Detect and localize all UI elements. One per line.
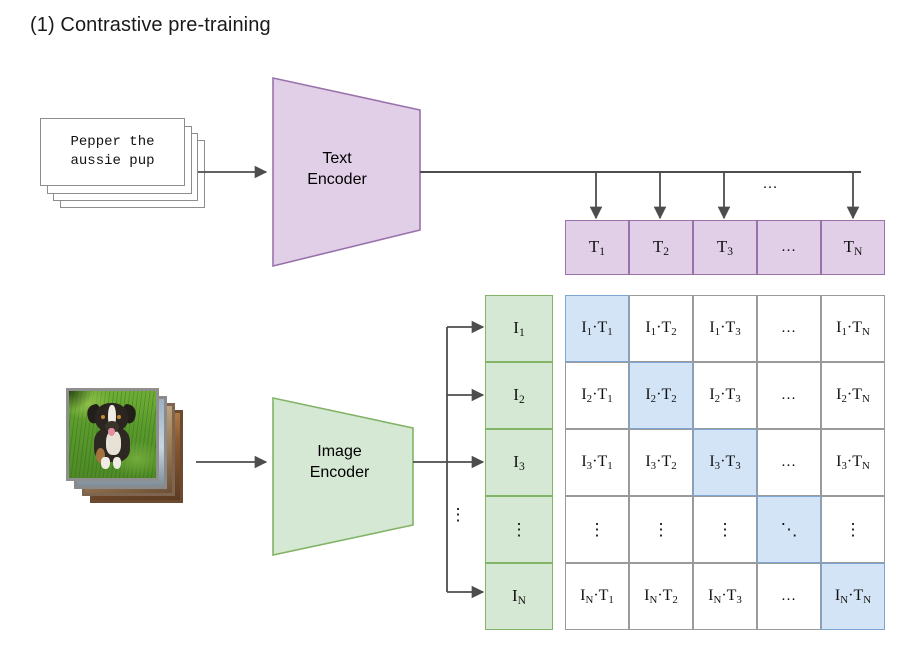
embedding-symbol: I1 bbox=[836, 319, 847, 336]
dot-product-label: I2·T2 bbox=[645, 386, 676, 405]
embedding-symbol: T2 bbox=[663, 587, 678, 604]
image-input-photo-stack bbox=[66, 388, 196, 503]
image-encoder-shape bbox=[273, 398, 413, 555]
text-embedding-box-N[interactable]: TN bbox=[821, 220, 885, 275]
image-encoder-label: Image Encoder bbox=[277, 441, 402, 483]
text-embedding-box-2[interactable]: T2 bbox=[629, 220, 693, 275]
embedding-symbol: T3 bbox=[717, 237, 733, 258]
matrix-cell-2-3[interactable]: I2·T3 bbox=[693, 362, 757, 429]
matrix-cell-5-5[interactable]: IN·TN bbox=[821, 563, 885, 630]
image-embedding-ellipsis[interactable]: ⋮ bbox=[485, 496, 553, 563]
dot-product-label: IN·T1 bbox=[580, 587, 614, 606]
dot-product-label: I2·TN bbox=[836, 386, 870, 405]
embedding-symbol: I2 bbox=[581, 386, 592, 403]
embedding-symbol: TN bbox=[844, 237, 863, 258]
text-embedding-box-1[interactable]: T1 bbox=[565, 220, 629, 275]
embedding-symbol: T1 bbox=[599, 587, 614, 604]
puppy-tongue bbox=[108, 428, 115, 436]
image-embedding-box-3[interactable]: I3 bbox=[485, 429, 553, 496]
embedding-symbol: TN bbox=[853, 587, 871, 604]
text-encoder-shape bbox=[273, 78, 420, 266]
dot-product-label: I1·T2 bbox=[645, 319, 676, 338]
embedding-symbol: I2 bbox=[709, 386, 720, 403]
dot-product-label: I3·TN bbox=[836, 453, 870, 472]
matrix-cell-1-3[interactable]: I1·T3 bbox=[693, 295, 757, 362]
dot-product-label: I3·T3 bbox=[709, 453, 740, 472]
embedding-symbol: TN bbox=[852, 386, 870, 403]
embedding-symbol: IN bbox=[708, 587, 721, 604]
embedding-symbol: T2 bbox=[661, 319, 676, 336]
matrix-cell-1-2[interactable]: I1·T2 bbox=[629, 295, 693, 362]
embedding-symbol: T2 bbox=[661, 386, 676, 403]
dot-product-label: I1·TN bbox=[836, 319, 870, 338]
embedding-symbol: T1 bbox=[589, 237, 605, 258]
matrix-cell-4-2[interactable]: ⋮ bbox=[629, 496, 693, 563]
ellipsis-glyph: … bbox=[781, 588, 797, 605]
image-bus-ellipsis: ⋮ bbox=[449, 505, 467, 525]
embedding-symbol: I2 bbox=[836, 386, 847, 403]
image-embedding-box-N[interactable]: IN bbox=[485, 563, 553, 630]
image-embedding-box-2[interactable]: I2 bbox=[485, 362, 553, 429]
text-embedding-ellipsis[interactable]: … bbox=[757, 220, 821, 275]
ellipsis-glyph: ⋱ bbox=[781, 520, 798, 540]
embedding-symbol: T3 bbox=[727, 587, 742, 604]
text-card-front: Pepper the aussie pup bbox=[40, 118, 185, 186]
embedding-symbol: … bbox=[781, 239, 797, 256]
ellipsis-glyph: ⋮ bbox=[653, 520, 670, 540]
embedding-symbol: I3 bbox=[709, 453, 720, 470]
matrix-cell-5-3[interactable]: IN·T3 bbox=[693, 563, 757, 630]
embedding-symbol: I3 bbox=[836, 453, 847, 470]
page-title: (1) Contrastive pre-training bbox=[30, 14, 271, 37]
embedding-symbol: IN bbox=[644, 587, 657, 604]
matrix-cell-2-5[interactable]: I2·TN bbox=[821, 362, 885, 429]
dot-product-label: IN·T2 bbox=[644, 587, 678, 606]
matrix-cell-4-4[interactable]: ⋱ bbox=[757, 496, 821, 563]
ellipsis-glyph: … bbox=[781, 454, 797, 471]
embedding-symbol: I3 bbox=[581, 453, 592, 470]
matrix-cell-3-3[interactable]: I3·T3 bbox=[693, 429, 757, 496]
photo-front-puppy bbox=[66, 388, 159, 481]
text-encoder-label: Text Encoder bbox=[277, 148, 397, 190]
matrix-cell-5-1[interactable]: IN·T1 bbox=[565, 563, 629, 630]
dot-product-label: IN·T3 bbox=[708, 587, 742, 606]
text-input-card-stack: Pepper the aussie pup bbox=[40, 118, 220, 208]
dot-product-label: I1·T3 bbox=[709, 319, 740, 338]
matrix-cell-1-5[interactable]: I1·TN bbox=[821, 295, 885, 362]
embedding-symbol: T1 bbox=[597, 386, 612, 403]
embedding-symbol: I1 bbox=[645, 319, 656, 336]
embedding-symbol: T3 bbox=[725, 386, 740, 403]
matrix-cell-4-1[interactable]: ⋮ bbox=[565, 496, 629, 563]
embedding-symbol: IN bbox=[580, 587, 593, 604]
embedding-symbol: I2 bbox=[645, 386, 656, 403]
text-embedding-box-3[interactable]: T3 bbox=[693, 220, 757, 275]
text-bus-ellipsis: … bbox=[755, 176, 785, 193]
embedding-symbol: IN bbox=[512, 586, 526, 607]
embedding-symbol: I1 bbox=[513, 318, 524, 339]
ellipsis-glyph: ⋮ bbox=[589, 520, 606, 540]
embedding-symbol: I2 bbox=[513, 385, 524, 406]
matrix-cell-3-2[interactable]: I3·T2 bbox=[629, 429, 693, 496]
matrix-cell-4-3[interactable]: ⋮ bbox=[693, 496, 757, 563]
puppy-figure bbox=[86, 403, 140, 471]
matrix-cell-1-4[interactable]: … bbox=[757, 295, 821, 362]
dot-product-label: I1·T1 bbox=[581, 319, 612, 338]
matrix-cell-3-5[interactable]: I3·TN bbox=[821, 429, 885, 496]
embedding-symbol: T3 bbox=[725, 453, 740, 470]
puppy-eye-right bbox=[117, 415, 121, 419]
dot-product-label: I3·T2 bbox=[645, 453, 676, 472]
dot-product-label: I2·T3 bbox=[709, 386, 740, 405]
embedding-symbol: T3 bbox=[725, 319, 740, 336]
embedding-symbol: T2 bbox=[653, 237, 669, 258]
embedding-symbol: TN bbox=[852, 319, 870, 336]
ellipsis-glyph: ⋮ bbox=[717, 520, 734, 540]
matrix-cell-1-1[interactable]: I1·T1 bbox=[565, 295, 629, 362]
matrix-cell-5-4[interactable]: … bbox=[757, 563, 821, 630]
matrix-cell-2-2[interactable]: I2·T2 bbox=[629, 362, 693, 429]
ellipsis-glyph: … bbox=[781, 387, 797, 404]
embedding-symbol: I3 bbox=[513, 452, 524, 473]
ellipsis-glyph: ⋮ bbox=[845, 520, 862, 540]
caption-text: Pepper the aussie pup bbox=[70, 133, 154, 171]
matrix-cell-2-1[interactable]: I2·T1 bbox=[565, 362, 629, 429]
embedding-symbol: T1 bbox=[597, 319, 612, 336]
matrix-cell-5-2[interactable]: IN·T2 bbox=[629, 563, 693, 630]
matrix-cell-3-1[interactable]: I3·T1 bbox=[565, 429, 629, 496]
embedding-symbol: I3 bbox=[645, 453, 656, 470]
dot-product-label: I3·T1 bbox=[581, 453, 612, 472]
puppy-paw-left bbox=[101, 457, 109, 469]
matrix-cell-2-4[interactable]: … bbox=[757, 362, 821, 429]
embedding-symbol: I1 bbox=[581, 319, 592, 336]
embedding-symbol: ⋮ bbox=[511, 520, 528, 540]
matrix-cell-4-5[interactable]: ⋮ bbox=[821, 496, 885, 563]
dot-product-label: I2·T1 bbox=[581, 386, 612, 405]
image-embedding-box-1[interactable]: I1 bbox=[485, 295, 553, 362]
puppy-paw-right bbox=[113, 457, 121, 469]
dot-product-label: IN·TN bbox=[835, 587, 871, 606]
embedding-symbol: T1 bbox=[597, 453, 612, 470]
matrix-cell-3-4[interactable]: … bbox=[757, 429, 821, 496]
embedding-symbol: I1 bbox=[709, 319, 720, 336]
ellipsis-glyph: … bbox=[781, 320, 797, 337]
embedding-symbol: T2 bbox=[661, 453, 676, 470]
embedding-symbol: TN bbox=[852, 453, 870, 470]
embedding-symbol: IN bbox=[835, 587, 848, 604]
